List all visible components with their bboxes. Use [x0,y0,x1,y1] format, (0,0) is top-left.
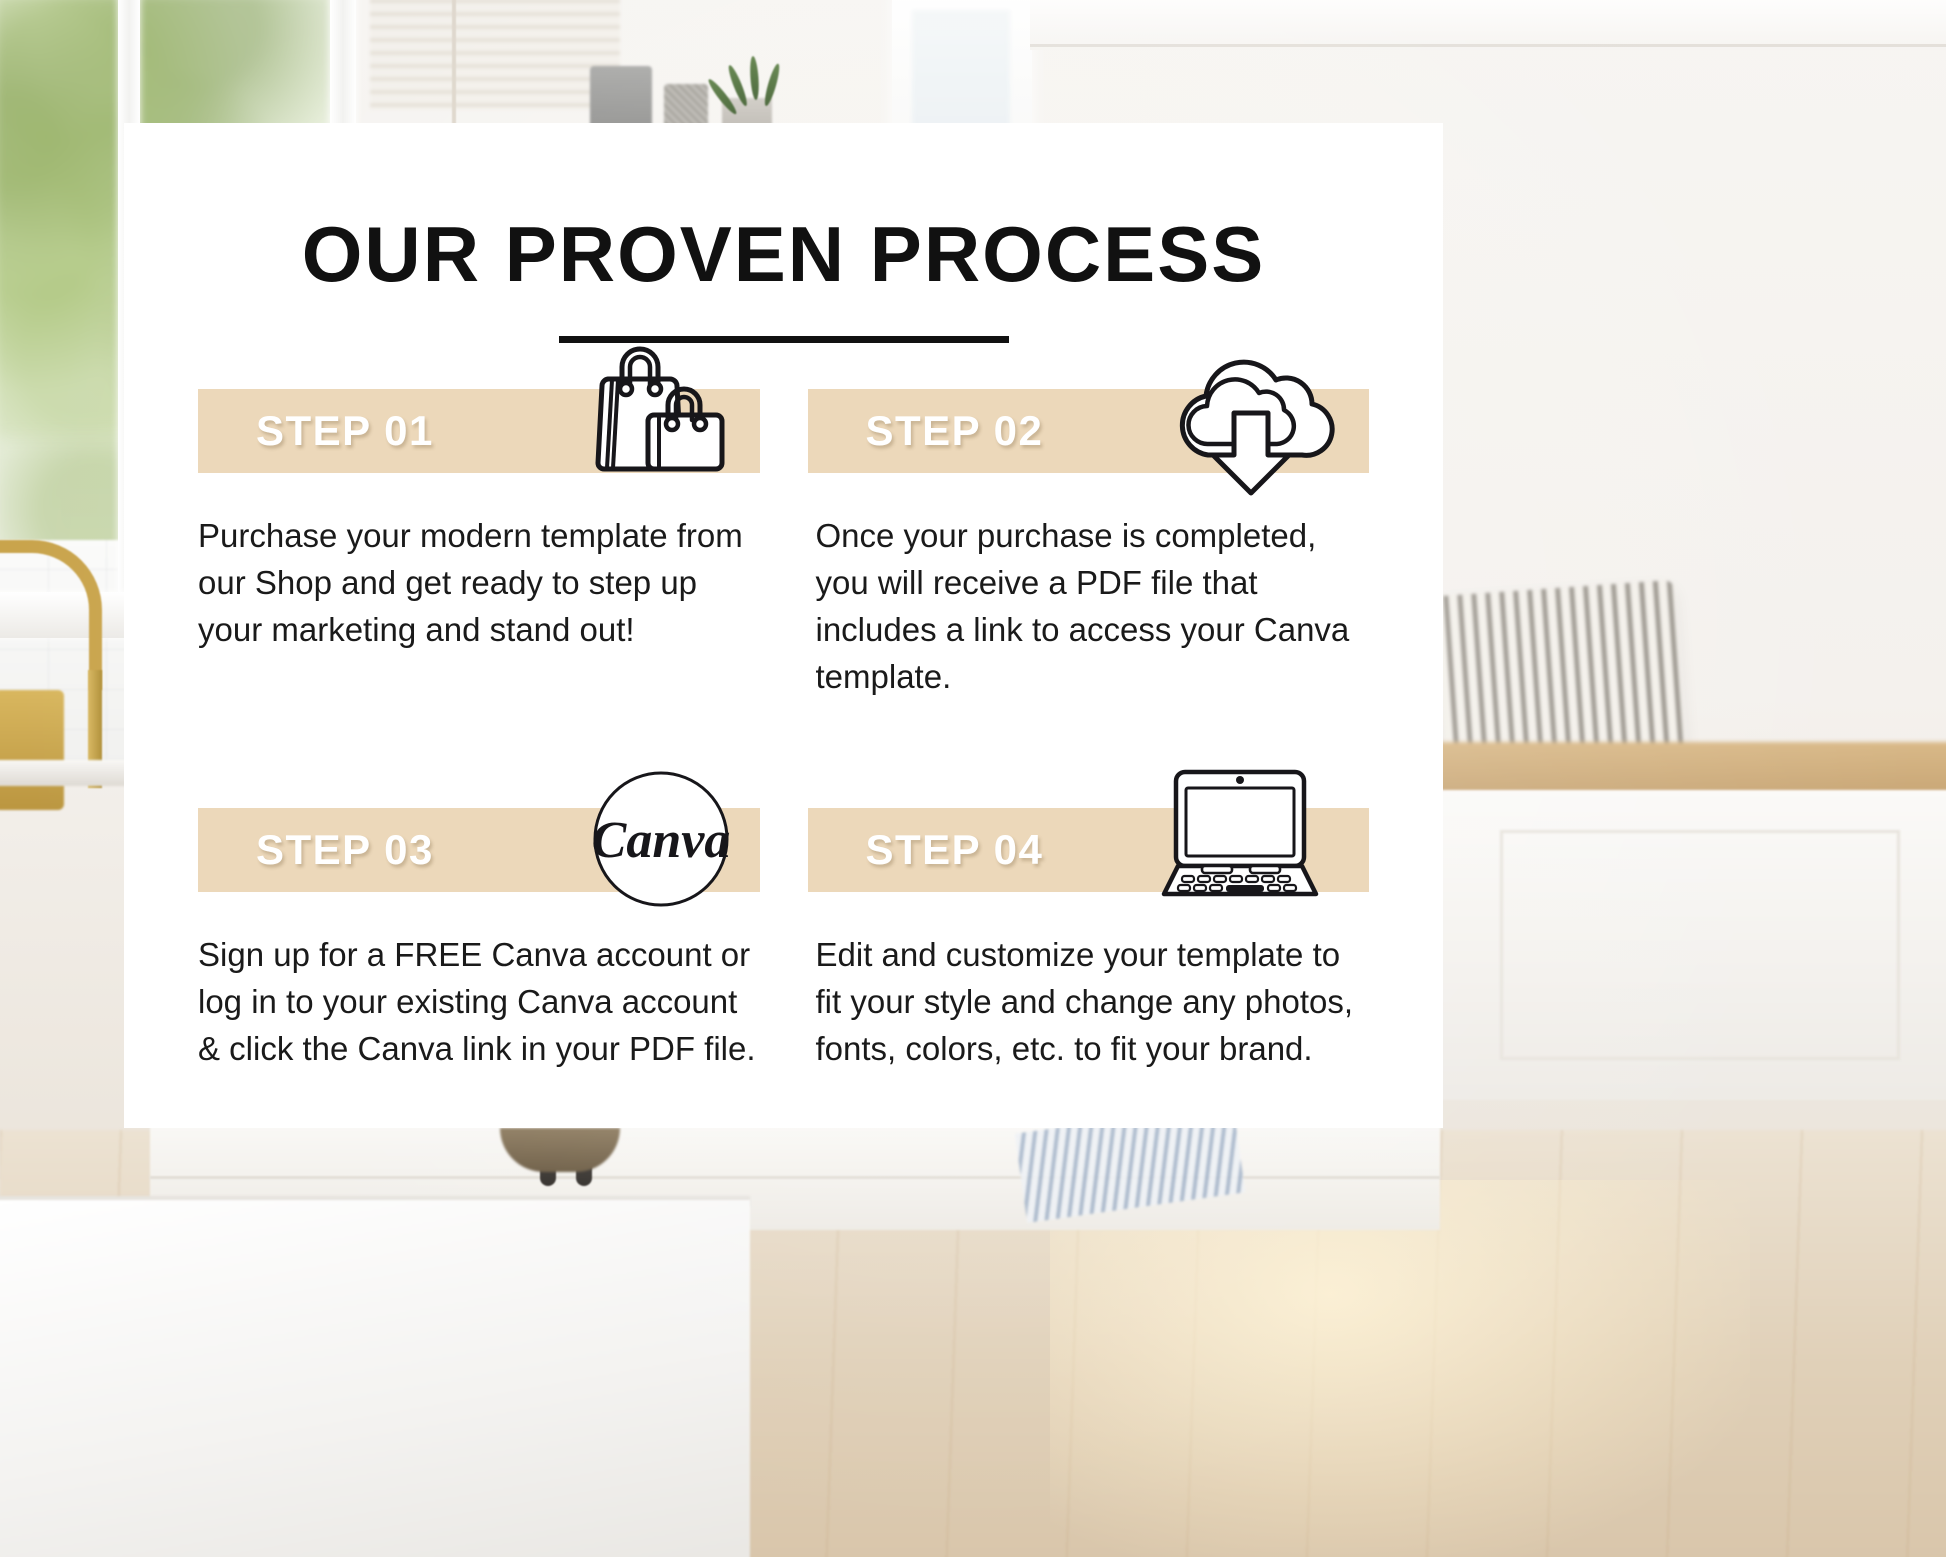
step-body-04: Edit and customize your template to fit … [808,932,1370,1073]
step-card-04: STEP 04 [808,792,1370,1073]
step-header-02: STEP 02 [808,373,1370,473]
step-card-03: STEP 03 Canva Sign up for a FREE Canva a… [198,792,760,1073]
step-label-01: STEP 01 [256,389,434,473]
content-card: OUR PROVEN PROCESS STEP 01 [124,123,1443,1128]
step-body-03: Sign up for a FREE Canva account or log … [198,932,760,1073]
step-header-04: STEP 04 [808,792,1370,892]
title-divider [559,336,1009,343]
step-label-02: STEP 02 [866,389,1044,473]
steps-grid: STEP 01 [124,373,1443,1073]
step-body-02: Once your purchase is completed, you wil… [808,513,1370,700]
step-header-01: STEP 01 [198,373,760,473]
page-title: OUR PROVEN PROCESS [124,209,1443,300]
step-label-03: STEP 03 [256,808,434,892]
step-card-01: STEP 01 [198,373,760,700]
step-header-03: STEP 03 Canva [198,792,760,892]
step-body-01: Purchase your modern template from our S… [198,513,760,654]
step-label-04: STEP 04 [866,808,1044,892]
step-card-02: STEP 02 Once your purchase is completed,… [808,373,1370,700]
